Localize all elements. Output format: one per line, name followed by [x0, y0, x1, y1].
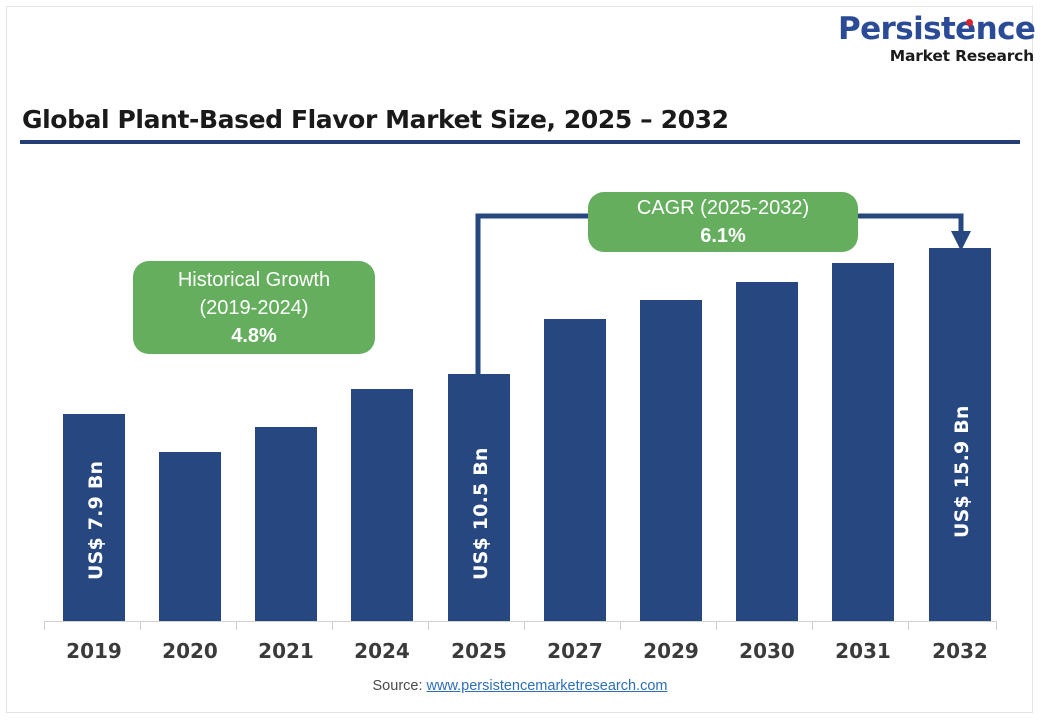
historical-growth-title: Historical Growth: [178, 266, 330, 294]
bar-2024: [351, 389, 413, 621]
axis-tick: [428, 621, 429, 630]
axis-tick: [44, 621, 45, 630]
bar-2029: [640, 300, 702, 621]
axis-tick: [620, 621, 621, 630]
bar-2031: [832, 263, 894, 621]
bar-2027: [544, 319, 606, 621]
x-axis-label-2029: 2029: [623, 639, 719, 663]
source-line: Source: www.persistencemarketresearch.co…: [0, 678, 1040, 694]
bar-2030: [736, 282, 798, 621]
historical-growth-period: (2019-2024): [200, 294, 309, 322]
axis-tick: [908, 621, 909, 630]
cagr-callout: CAGR (2025-2032) 6.1%: [588, 192, 858, 252]
axis-tick: [716, 621, 717, 630]
historical-growth-value: 4.8%: [231, 322, 277, 350]
axis-tick: [524, 621, 525, 630]
chart-page: Persistence Market Research Global Plant…: [0, 0, 1040, 720]
cagr-title: CAGR (2025-2032): [637, 194, 809, 222]
x-axis-label-2024: 2024: [334, 639, 430, 663]
chart-plot-area: US$ 7.9 Bn US$ 10.5 Bn US$ 15.9 Bn 2019 …: [0, 0, 1040, 720]
axis-tick: [996, 621, 997, 630]
source-prefix: Source:: [373, 678, 427, 694]
historical-growth-callout: Historical Growth (2019-2024) 4.8%: [133, 261, 375, 354]
axis-tick: [812, 621, 813, 630]
x-axis-label-2025: 2025: [431, 639, 527, 663]
bar-value-label-2025: US$ 10.5 Bn: [470, 447, 492, 580]
cagr-value: 6.1%: [700, 222, 746, 250]
axis-tick: [236, 621, 237, 630]
x-axis-label-2032: 2032: [912, 639, 1008, 663]
x-axis-label-2030: 2030: [719, 639, 815, 663]
x-axis-label-2027: 2027: [527, 639, 623, 663]
axis-tick: [332, 621, 333, 630]
x-axis-label-2031: 2031: [815, 639, 911, 663]
x-axis-label-2019: 2019: [46, 639, 142, 663]
bar-2021: [255, 427, 317, 621]
bar-value-label-2032: US$ 15.9 Bn: [951, 405, 973, 538]
source-link[interactable]: www.persistencemarketresearch.com: [427, 678, 668, 694]
axis-tick: [140, 621, 141, 630]
bar-value-label-2019: US$ 7.9 Bn: [85, 461, 107, 580]
x-axis-label-2021: 2021: [238, 639, 334, 663]
bar-2020: [159, 452, 221, 621]
x-axis-label-2020: 2020: [142, 639, 238, 663]
x-axis-line: [44, 621, 996, 622]
